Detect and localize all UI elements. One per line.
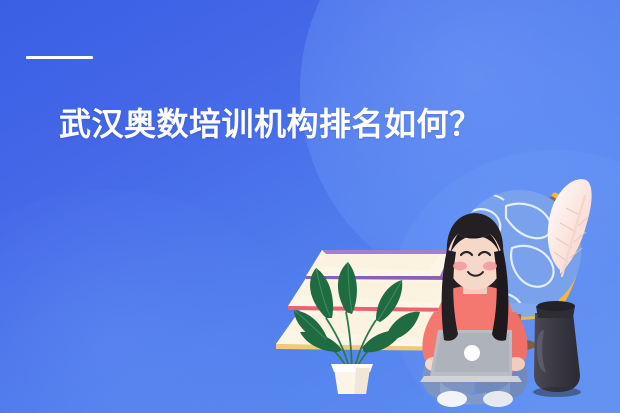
banner-canvas: 武汉奥数培训机构排名如何？	[0, 0, 620, 413]
person-cheek-left	[453, 262, 467, 271]
person-cheek-right	[483, 262, 497, 271]
inkpot-shadow	[533, 387, 581, 397]
person-foot-left	[437, 391, 467, 407]
laptop-base	[420, 376, 522, 382]
laptop-logo	[464, 345, 480, 361]
inkpot-mouth	[537, 301, 575, 311]
person-foot-right	[483, 391, 513, 407]
illustration	[0, 0, 620, 413]
